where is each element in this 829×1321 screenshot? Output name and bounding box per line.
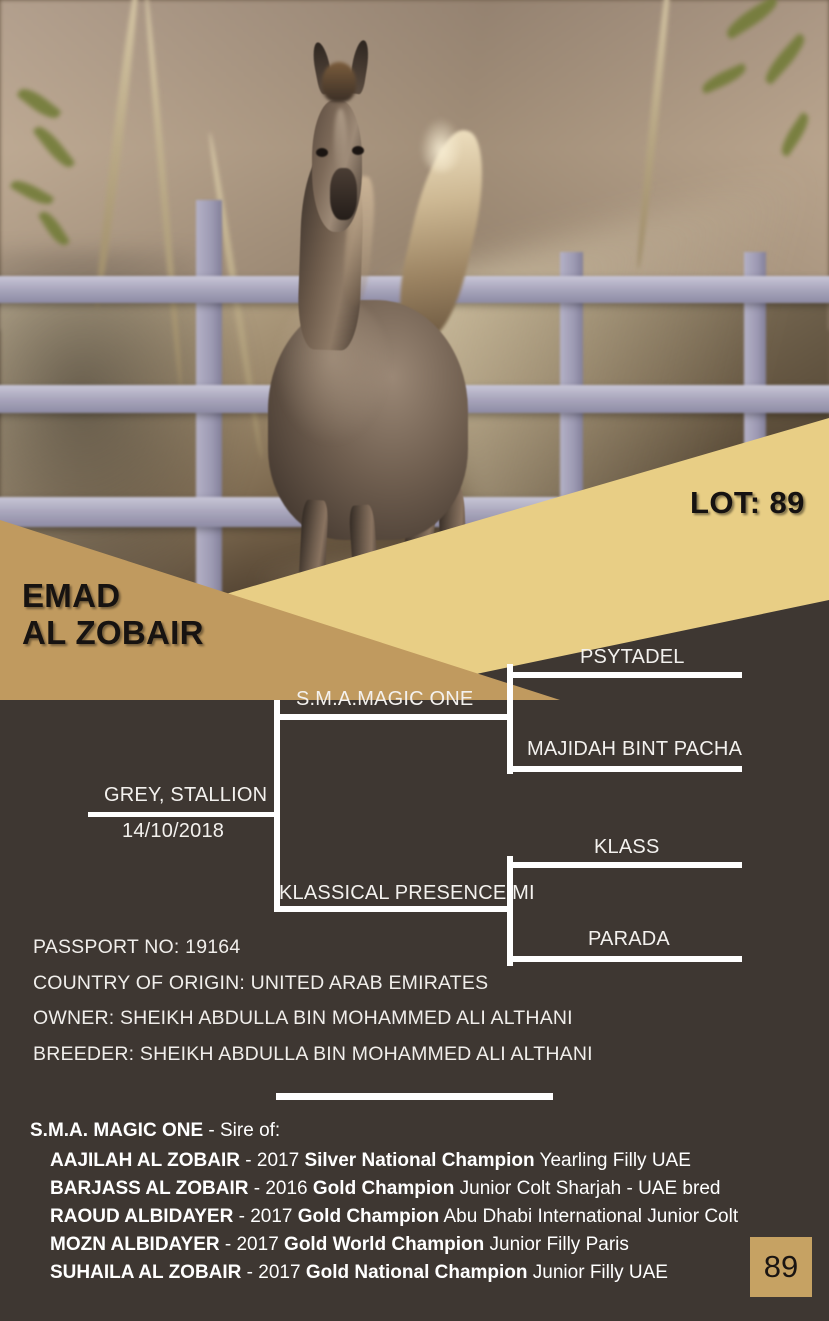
achievement-detail: Junior Colt Sharjah - UAE bred <box>454 1178 720 1199</box>
pedigree-sire-sire-name: PSYTADEL <box>580 646 685 669</box>
achievement-horse-name: SUHAILA AL ZOBAIR <box>50 1262 241 1283</box>
achievement-year: - 2016 <box>248 1178 312 1199</box>
achievements-heading-name: S.M.A. MAGIC ONE <box>30 1120 203 1141</box>
achievement-year: - 2017 <box>233 1206 297 1227</box>
achievement-year: - 2017 <box>220 1234 284 1255</box>
horse-details: PASSPORT NO: 19164 COUNTRY OF ORIGIN: UN… <box>33 938 733 1080</box>
achievement-year: - 2017 <box>240 1150 304 1171</box>
lot-badge: 89 <box>750 1237 812 1297</box>
achievement-horse-name: MOZN ALBIDAYER <box>50 1234 220 1255</box>
pedigree-connector-sire <box>507 664 513 774</box>
achievements-heading: S.M.A. MAGIC ONE - Sire of: <box>30 1120 820 1142</box>
achievement-award: Gold Champion <box>313 1178 454 1199</box>
detail-breeder: BREEDER: SHEIKH ABDULLA BIN MOHAMMED ALI… <box>33 1045 733 1065</box>
horse-dob: 14/10/2018 <box>122 820 224 843</box>
achievement-detail: Abu Dhabi International Junior Colt <box>439 1206 738 1227</box>
achievement-row: AAJILAH AL ZOBAIR - 2017 Silver National… <box>50 1149 820 1173</box>
achievement-detail: Junior Filly Paris <box>484 1234 629 1255</box>
achievement-award: Gold National Champion <box>306 1262 528 1283</box>
achievements-section: S.M.A. MAGIC ONE - Sire of: AAJILAH AL Z… <box>30 1120 820 1289</box>
pedigree-rail-dam-sire <box>507 862 742 868</box>
achievement-horse-name: AAJILAH AL ZOBAIR <box>50 1150 240 1171</box>
achievement-row: RAOUD ALBIDAYER - 2017 Gold Champion Abu… <box>50 1205 820 1229</box>
section-divider <box>276 1093 553 1100</box>
pedigree-connector-gen1 <box>274 700 280 910</box>
achievement-detail: Yearling Filly UAE <box>535 1150 691 1171</box>
achievement-horse-name: RAOUD ALBIDAYER <box>50 1206 233 1227</box>
horse-color-sex: GREY, STALLION <box>104 784 267 807</box>
achievement-award: Gold World Champion <box>284 1234 484 1255</box>
detail-passport: PASSPORT NO: 19164 <box>33 938 733 958</box>
achievement-horse-name: BARJASS AL ZOBAIR <box>50 1178 248 1199</box>
pedigree-rail-dam <box>274 906 512 912</box>
lot-catalog-page: LOT: 89 EMAD AL ZOBAIR GREY, STALLION 14… <box>0 0 829 1321</box>
pedigree-rail-root <box>88 812 278 817</box>
pedigree-dam-name: KLASSICAL PRESENCE MI <box>279 882 535 905</box>
pedigree-sire-name: S.M.A.MAGIC ONE <box>296 688 473 711</box>
achievement-award: Gold Champion <box>298 1206 439 1227</box>
pedigree-rail-sire <box>274 714 512 720</box>
pedigree-sire-dam-name: MAJIDAH BINT PACHA <box>527 738 742 761</box>
achievement-detail: Junior Filly UAE <box>528 1262 668 1283</box>
pedigree-rail-sire-sire <box>507 672 742 678</box>
achievement-row: SUHAILA AL ZOBAIR - 2017 Gold National C… <box>50 1261 820 1285</box>
detail-owner: OWNER: SHEIKH ABDULLA BIN MOHAMMED ALI A… <box>33 1009 733 1029</box>
pedigree-rail-sire-dam <box>507 766 742 772</box>
detail-country: COUNTRY OF ORIGIN: UNITED ARAB EMIRATES <box>33 974 733 994</box>
achievements-heading-suffix: - Sire of: <box>203 1120 280 1141</box>
achievement-year: - 2017 <box>241 1262 305 1283</box>
pedigree-dam-sire-name: KLASS <box>594 836 659 859</box>
achievements-list: AAJILAH AL ZOBAIR - 2017 Silver National… <box>30 1149 820 1285</box>
achievement-row: BARJASS AL ZOBAIR - 2016 Gold Champion J… <box>50 1177 820 1201</box>
achievement-row: MOZN ALBIDAYER - 2017 Gold World Champio… <box>50 1233 820 1257</box>
achievement-award: Silver National Champion <box>304 1150 534 1171</box>
